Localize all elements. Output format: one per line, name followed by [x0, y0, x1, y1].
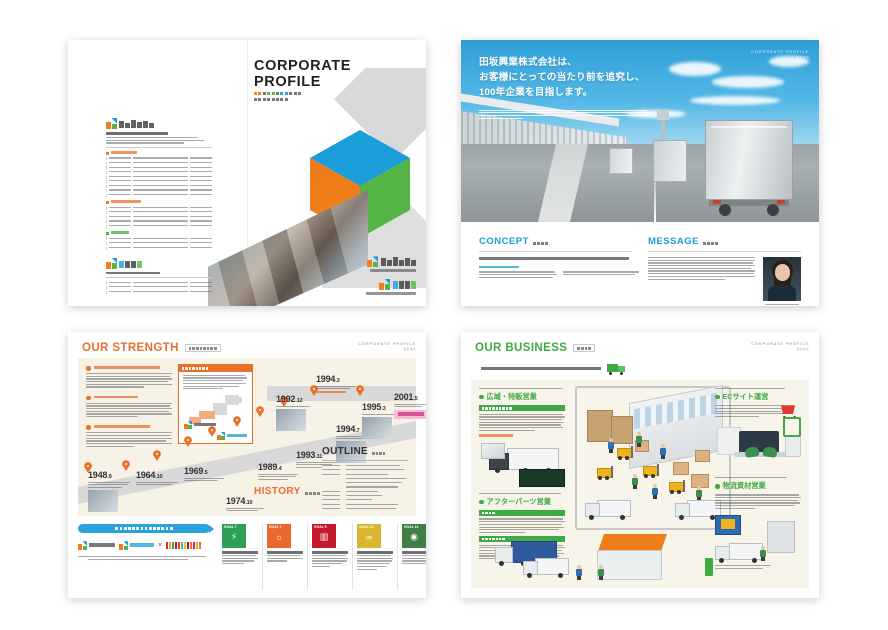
sdg-goal-card: GOAL 9 ▥ — [307, 524, 352, 590]
cover-footer-logos — [366, 256, 416, 296]
panel-concept-message[interactable]: 田坂興業株式会社は、 お客様にとっての当たり前を追究し、 100年企業を目指しま… — [461, 40, 819, 306]
sdgs-goal-cards: GOAL 7 ⚡ GOAL 7 ☼ — [218, 524, 426, 590]
contact-row — [106, 225, 212, 228]
contact-row — [106, 180, 212, 183]
highway-photo: 田坂興業株式会社は、 お客様にとっての当たり前を追究し、 100年企業を目指しま… — [461, 40, 819, 222]
distant-truck — [609, 148, 633, 174]
concept-policy-list — [479, 271, 632, 279]
worker-figure — [651, 484, 658, 499]
outline-block: OUTLINE — [322, 446, 408, 512]
mid-truck — [653, 140, 687, 182]
tasaka-mark-icon — [367, 256, 378, 267]
materials-illustration — [715, 515, 801, 563]
tasaka-mark-icon — [106, 118, 117, 129]
contact-row — [106, 286, 212, 289]
timeline-thumbnail — [362, 417, 392, 439]
truck-icon — [607, 364, 625, 374]
strength-item — [86, 396, 172, 418]
timeline-entry: 2001.5 — [394, 392, 426, 419]
sdg-goal-tile: GOAL 13 ◉ — [402, 524, 426, 548]
corporate-mark-title: CORPORATE PROFILE — [751, 342, 809, 346]
business-canvas: 広域・特販営業 — [471, 380, 809, 588]
cover-title: CORPORATE PROFILE — [254, 58, 351, 90]
tasaka-logo-small — [78, 541, 115, 550]
sdg-goal-tile: GOAL 7 ⚡ — [222, 524, 246, 548]
truck-illustration — [479, 441, 565, 487]
section-title: アフターパーツ営業 — [487, 497, 551, 507]
sdg-goal-card: GOAL 7 ⚡ — [218, 524, 262, 590]
timeline-entry: 1994.3 — [316, 374, 358, 395]
contact-row — [106, 237, 212, 240]
message-heading: MESSAGE — [648, 236, 801, 247]
tasaka-mark-icon — [184, 421, 192, 429]
concept-heading-jp-glyphs — [533, 242, 548, 247]
corporate-profile-mark: CORPORATE PROFILE 会社案内 — [358, 342, 416, 351]
bullet-icon — [86, 366, 91, 371]
timeline-pin — [208, 426, 216, 437]
forklift — [669, 480, 687, 494]
forklift — [617, 446, 635, 460]
tasaka-wordmark-icon — [119, 119, 154, 128]
materials-truck — [715, 543, 763, 563]
contact-row — [106, 242, 212, 245]
sdgs-logo-row: × — [78, 541, 210, 550]
material-panel — [767, 521, 795, 553]
outline-row — [322, 504, 408, 507]
cargo-box — [695, 450, 710, 462]
tasaka-mark-icon — [78, 541, 87, 550]
worker-figure — [635, 432, 642, 447]
cargo-box — [673, 462, 689, 475]
business-section-logistics-materials: 物流資材営業 — [715, 477, 801, 569]
sdg-goal-card: GOAL 12 ∞ — [352, 524, 397, 590]
multiply-icon: × — [158, 542, 162, 549]
message-heading-en: MESSAGE — [648, 236, 699, 247]
cover-company-name — [106, 132, 212, 135]
contact-row — [106, 194, 212, 197]
eco-badge-icon — [783, 417, 801, 437]
headline-lead — [479, 110, 651, 119]
outline-heading-en: OUTLINE — [322, 446, 368, 457]
depot-illustration — [597, 534, 667, 580]
concept-heading: CONCEPT — [479, 236, 632, 247]
headline-line-1: 田坂興業株式会社は、 — [479, 57, 577, 68]
divider — [106, 277, 212, 278]
timeline-pin — [153, 450, 161, 461]
headline-line-2: お客様にとっての当たり前を追究し、 — [479, 72, 645, 83]
timeline-entry: 1948.9 — [88, 470, 130, 512]
sdg-goal-tile: GOAL 12 ∞ — [357, 524, 381, 548]
forklift — [597, 466, 615, 480]
ceo-portrait — [763, 257, 801, 306]
strength-canvas: 1948.9 1964.10 1969.5 1974.10 1989.4 — [78, 358, 416, 516]
contact-group-chugoku — [106, 200, 212, 227]
sdg-goal-tile: GOAL 7 ☼ — [267, 524, 291, 548]
chuo-mark-icon — [379, 279, 390, 290]
cover-company-secondary — [106, 272, 212, 275]
tasaka-logo-footer — [366, 256, 416, 267]
outline-row — [322, 474, 408, 477]
history-label-jp-glyphs — [305, 492, 320, 497]
divider — [106, 147, 212, 148]
contact-row — [106, 166, 212, 169]
business-column-right: ECサイト運営 — [715, 388, 801, 570]
warehouse-truck — [585, 500, 631, 520]
portrait-caption — [763, 304, 801, 306]
section-title: 広域・特販営業 — [487, 392, 537, 402]
chuo-wordmark-icon — [393, 280, 416, 289]
panel-cover[interactable]: CORPORATE PROFILE — [68, 40, 426, 306]
business-header: OUR BUSINESS — [475, 342, 595, 354]
concept-message-row: CONCEPT — [461, 222, 819, 306]
business-section-ec-site: ECサイト運営 — [715, 388, 801, 467]
bullet-icon — [86, 425, 91, 430]
timeline-entry: 1992.12 — [276, 394, 318, 431]
outline-row — [322, 499, 408, 502]
cover-contact-block — [106, 118, 212, 295]
chuo-logo-small — [217, 432, 247, 440]
subsection-label — [479, 405, 565, 411]
policy-column-right — [563, 271, 639, 279]
worker-figure — [759, 546, 766, 561]
bullet-icon — [715, 484, 720, 489]
sdgs-pill-label — [78, 524, 210, 533]
map-card-title — [179, 365, 252, 372]
headline-line-3: 100年企業を目指します。 — [479, 87, 593, 98]
chuo-logo-footer — [366, 279, 416, 290]
contact-group-kansai — [106, 151, 212, 197]
worker-figure — [659, 444, 666, 459]
cover-photo-collage — [208, 190, 368, 306]
cover-title-line1: CORPORATE — [254, 58, 351, 74]
white-truck — [523, 558, 569, 578]
business-column-left: 広域・特販営業 — [479, 388, 565, 561]
corporate-mark-sub: 会社案内 — [751, 347, 809, 351]
contact-row — [106, 157, 212, 160]
headline-block: 田坂興業株式会社は、 お客様にとっての当たり前を追究し、 100年企業を目指しま… — [479, 56, 659, 120]
chuo-mark-icon — [106, 258, 117, 269]
contact-row — [106, 171, 212, 174]
cover-subtitle — [254, 92, 364, 104]
outline-row — [322, 478, 408, 481]
cover-canvas: CORPORATE PROFILE — [68, 40, 426, 306]
outline-row — [322, 469, 408, 472]
foreground-truck — [705, 120, 793, 216]
strength-header: OUR STRENGTH — [82, 342, 221, 354]
section-title: ECサイト運営 — [723, 392, 769, 402]
sdg-goal-card: GOAL 7 ☼ — [262, 524, 307, 590]
timeline-pin — [256, 406, 264, 417]
outline-row — [322, 491, 408, 494]
chuo-mark-icon — [217, 432, 225, 440]
contact-row — [106, 281, 212, 284]
contact-row — [106, 211, 212, 214]
timeline-thumbnail — [88, 490, 118, 512]
sdgs-intro: × — [78, 524, 210, 590]
worker-figure — [631, 474, 638, 489]
divider — [648, 251, 801, 252]
contact-row — [106, 162, 212, 165]
pallet-stack — [611, 416, 633, 444]
business-heading-jp-tag — [573, 344, 594, 352]
timeline-pin — [233, 416, 241, 427]
concept-statement — [479, 257, 632, 260]
corporate-mark-sub: 会社案内 — [358, 347, 416, 351]
bullet-icon — [479, 395, 484, 400]
history-label: HISTORY — [254, 486, 320, 497]
corporate-mark-sub: 会社案内 — [751, 55, 809, 59]
panel-our-strength[interactable]: OUR STRENGTH CORPORATE PROFILE 会社案内 — [68, 332, 426, 598]
concept-policy-title — [479, 266, 632, 269]
sdg-goal-card: GOAL 13 ◉ — [397, 524, 426, 590]
portrait-photo — [763, 257, 801, 301]
strength-item — [86, 425, 172, 447]
corporate-mark-title: CORPORATE PROFILE — [358, 342, 416, 346]
cover-title-line2: PROFILE — [254, 74, 351, 90]
timeline-entry: 1974.10 — [226, 496, 268, 513]
tasaka-logo — [106, 118, 212, 129]
ec-laptop-illustration — [715, 421, 801, 467]
message-section: MESSAGE — [648, 236, 801, 292]
divider — [322, 460, 408, 461]
piece-brand-logo — [394, 410, 426, 419]
worker-figure — [607, 438, 614, 453]
panel-our-business[interactable]: OUR BUSINESS CORPORATE PROFILE 会社案内 広域・特… — [461, 332, 819, 598]
chuo-logo-small — [119, 541, 154, 550]
worker-figure — [695, 486, 702, 501]
outline-row — [322, 482, 408, 485]
contact-row — [106, 291, 212, 294]
outline-row — [322, 495, 408, 498]
outline-row — [322, 486, 408, 489]
outline-row — [322, 465, 408, 468]
timeline-entry: 1969.5 — [184, 466, 226, 483]
timeline-pin — [184, 436, 192, 447]
contact-row — [106, 176, 212, 179]
chuo-mark-icon — [119, 541, 128, 550]
subsection-label — [479, 510, 565, 516]
contact-row — [106, 185, 212, 188]
concept-section: CONCEPT — [479, 236, 632, 292]
timeline-thumbnail — [276, 409, 306, 431]
tasaka-wordmark-icon — [381, 257, 416, 266]
worker-figure — [575, 565, 582, 580]
business-section-wide-sales: 広域・特販営業 — [479, 388, 565, 487]
strength-heading-jp-tag — [185, 344, 221, 352]
contact-row — [106, 216, 212, 219]
sdgs-section: × GOAL 7 ⚡ — [78, 524, 416, 590]
contact-row — [106, 207, 212, 210]
divider — [479, 251, 632, 252]
corporate-profile-mark: CORPORATE PROFILE 会社案内 — [751, 50, 809, 59]
strength-list — [86, 366, 172, 455]
strength-item — [86, 366, 172, 388]
contact-row — [106, 220, 212, 223]
concept-heading-en: CONCEPT — [479, 236, 529, 247]
chuo-logo — [106, 258, 212, 269]
message-body — [648, 257, 755, 306]
corporate-profile-mark: CORPORATE PROFILE 会社案内 — [751, 342, 809, 351]
depot-wall — [597, 550, 662, 580]
section-title: 物流資材営業 — [723, 481, 766, 491]
sdgs-note — [78, 556, 210, 560]
timeline-entry: 1989.4 — [258, 462, 300, 482]
history-label-en: HISTORY — [254, 486, 301, 497]
sdg-wordmark-icon — [166, 542, 201, 549]
outline-row — [322, 508, 408, 511]
forklift — [643, 464, 661, 478]
contact-group-kyushu — [106, 231, 212, 249]
message-heading-jp-glyphs — [703, 242, 718, 247]
green-bollard — [705, 558, 713, 576]
strength-heading-en: OUR STRENGTH — [82, 342, 179, 354]
brochure-spread-grid: CORPORATE PROFILE — [0, 0, 888, 630]
timeline-entry: 1964.10 — [136, 470, 178, 487]
policy-column-left — [479, 271, 557, 279]
contact-row — [106, 189, 212, 192]
bullet-icon — [479, 500, 484, 505]
bullet-icon — [86, 396, 91, 401]
chuo-wordmark-icon — [119, 259, 142, 268]
business-heading-en: OUR BUSINESS — [475, 342, 567, 354]
sdg-goal-tile: GOAL 9 ▥ — [312, 524, 336, 548]
corporate-mark-title: CORPORATE PROFILE — [751, 50, 809, 54]
worker-figure — [597, 565, 604, 580]
bullet-icon — [715, 395, 720, 400]
contact-row — [106, 247, 212, 250]
warehouse-illustration — [575, 386, 731, 530]
business-lead — [481, 364, 625, 374]
